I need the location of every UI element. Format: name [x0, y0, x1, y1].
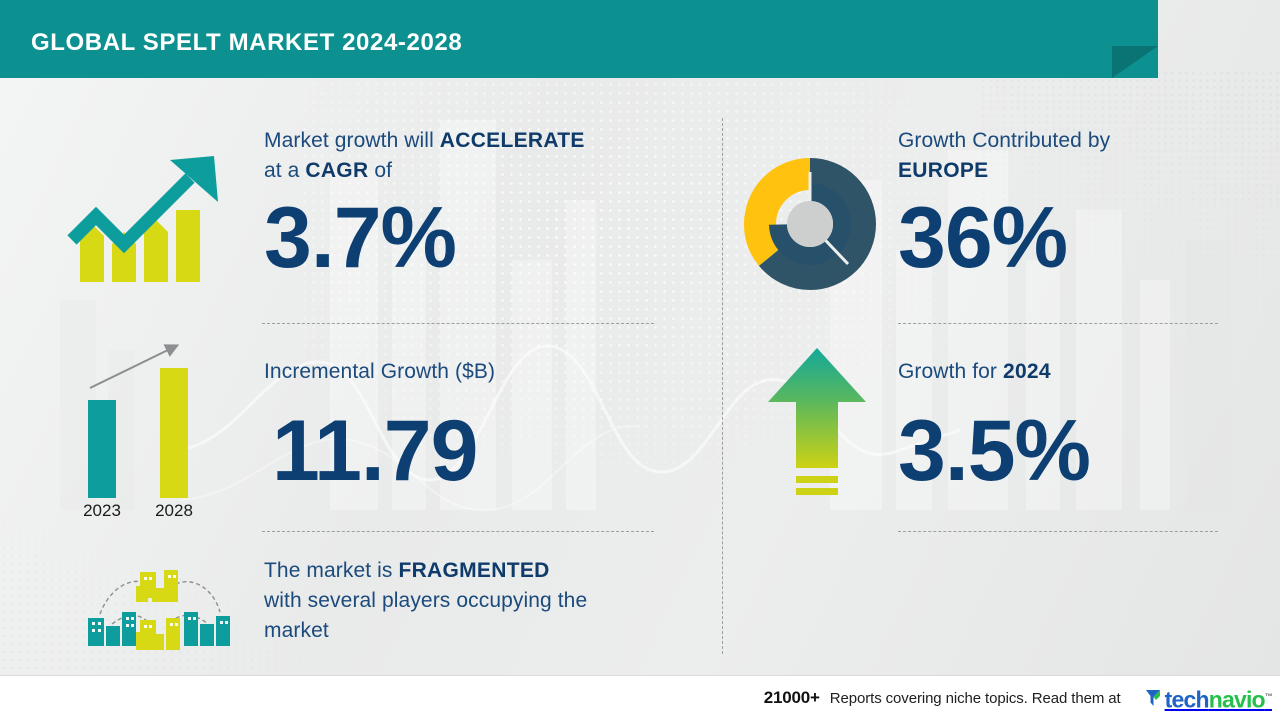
up-arrow-icon: [762, 344, 872, 510]
technavio-logo[interactable]: technavio™: [1145, 685, 1272, 712]
yearly-growth-description: Growth for 2024: [898, 357, 1228, 387]
fragmented-emphasis: FRAGMENTED: [398, 559, 549, 582]
page-title: GLOBAL SPELT MARKET 2024-2028: [31, 29, 462, 57]
footer-text: Reports covering niche topics. Read them…: [830, 690, 1121, 707]
infographic-page: GLOBAL SPELT MARKET 2024-2028 Market gro…: [0, 0, 1280, 720]
growth-arrow-bars-icon: [66, 140, 236, 290]
report-count: 21000+: [764, 688, 820, 708]
technavio-logo-navio: navio: [1209, 686, 1265, 712]
technavio-logo-tech: tech: [1165, 686, 1209, 712]
city-buildings-network-icon: [78, 562, 238, 658]
left-divider-2: [262, 531, 654, 532]
donut-chart-icon: [744, 158, 876, 290]
cagr-description: Market growth will ACCELERATE at a CAGR …: [264, 126, 664, 186]
cagr-value: 3.7%: [264, 192, 456, 284]
two-bar-chart-icon: 2023 2028: [68, 330, 228, 520]
region-share-value: 36%: [898, 192, 1067, 284]
footer-bar: 21000+ Reports covering niche topics. Re…: [0, 675, 1280, 720]
technavio-trademark: ™: [1265, 692, 1272, 701]
bar-label-2028: 2028: [155, 501, 193, 520]
column-divider: [722, 118, 723, 654]
left-divider-1: [262, 323, 654, 324]
cagr-emphasis: CAGR: [305, 159, 368, 182]
yearly-growth-year-emphasis: 2024: [1003, 360, 1051, 383]
incremental-growth-label: Incremental Growth ($B): [264, 357, 664, 387]
technavio-mark-icon: [1145, 689, 1162, 707]
fragmentation-line2: with several players occupying the: [264, 589, 587, 612]
cagr-line2-plain-a: at a: [264, 159, 305, 182]
bar-label-2023: 2023: [83, 501, 121, 520]
region-line1: Growth Contributed by: [898, 129, 1110, 152]
fragmentation-description: The market is FRAGMENTED with several pl…: [264, 556, 684, 646]
region-description: Growth Contributed by EUROPE: [898, 126, 1228, 186]
header-fold-corner: [1112, 46, 1158, 78]
fragmentation-line1-plain: The market is: [264, 559, 398, 582]
cagr-line1-plain: Market growth will: [264, 129, 440, 152]
fragmentation-line3: market: [264, 619, 329, 642]
incremental-growth-value: 11.79: [272, 405, 477, 497]
cagr-line2-plain-b: of: [368, 159, 392, 182]
right-divider-1: [898, 323, 1218, 324]
yearly-growth-value: 3.5%: [898, 405, 1090, 497]
region-europe-emphasis: EUROPE: [898, 159, 989, 182]
yearly-growth-line1-plain: Growth for: [898, 360, 1003, 383]
right-divider-2: [898, 531, 1218, 532]
cagr-accelerate-emphasis: ACCELERATE: [440, 129, 585, 152]
